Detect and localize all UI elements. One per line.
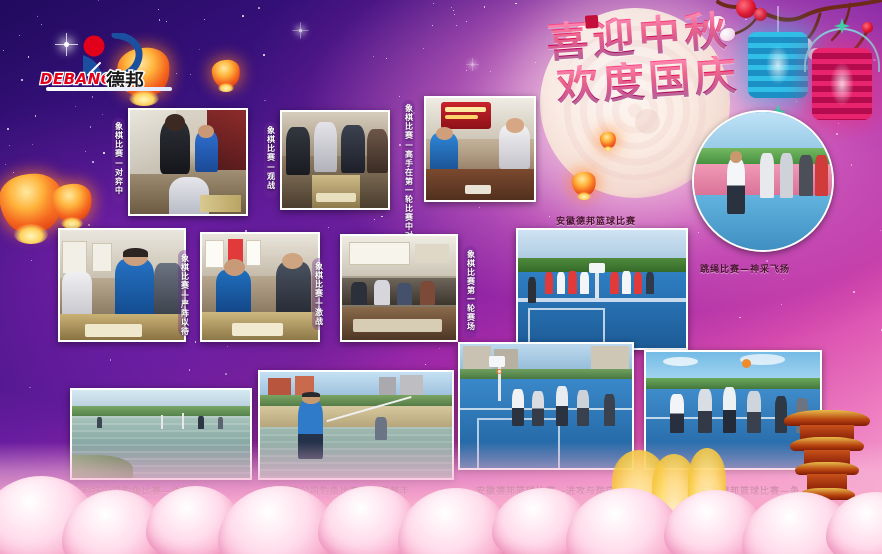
photo-chess-match-indoor[interactable] [128, 108, 248, 216]
sky-lantern-icon [572, 172, 596, 202]
caption-chess-first-round-duel: 象棋比赛—高手在第一轮比赛中对决 [402, 100, 415, 204]
pagoda-icon [782, 410, 872, 502]
bottom-flower-border [0, 442, 882, 554]
photo-chess-round-one-venue[interactable] [340, 234, 458, 342]
seal-stamp-icon [585, 15, 599, 29]
hanging-lantern-pink [812, 48, 872, 120]
caption-jump-rope-contest: 跳绳比赛—神采飞扬 [700, 262, 790, 275]
logo-latin-text: DEBANG [40, 70, 114, 88]
photo-chess-ready[interactable] [58, 228, 186, 342]
sky-lantern-icon [52, 184, 92, 232]
page-title: 喜迎中秋 欢度国庆 [537, 9, 743, 110]
caption-chess-ready: 象棋比赛—严阵以待 [178, 250, 191, 336]
caption-chess-spectators: 象棋比赛—观战 [264, 122, 277, 198]
photo-chess-intense[interactable] [200, 232, 320, 342]
caption-basketball-team-lineup: 安徽德邦篮球比赛 [556, 214, 636, 227]
caption-chess-match-indoor: 象棋比赛—对弈中 [112, 118, 125, 204]
festival-poster: DEBANG 德邦 喜迎中秋 欢度国庆 象棋比赛—对弈中 [0, 0, 882, 554]
caption-chess-round-one-venue: 象棋比赛第一轮赛场 [464, 246, 477, 338]
sky-lantern-icon [600, 132, 616, 152]
photo-chess-spectators[interactable] [280, 110, 390, 210]
caption-chess-intense: 象棋比赛—激战 [312, 258, 325, 330]
photo-jump-rope-contest[interactable] [692, 110, 834, 252]
sky-lantern-icon [212, 60, 240, 94]
photo-basketball-team-lineup[interactable] [516, 228, 688, 350]
logo-underline [46, 87, 172, 91]
hanging-lantern-blue [748, 32, 808, 98]
company-logo: DEBANG 德邦 [40, 33, 172, 95]
photo-chess-first-round-duel[interactable] [424, 96, 536, 202]
